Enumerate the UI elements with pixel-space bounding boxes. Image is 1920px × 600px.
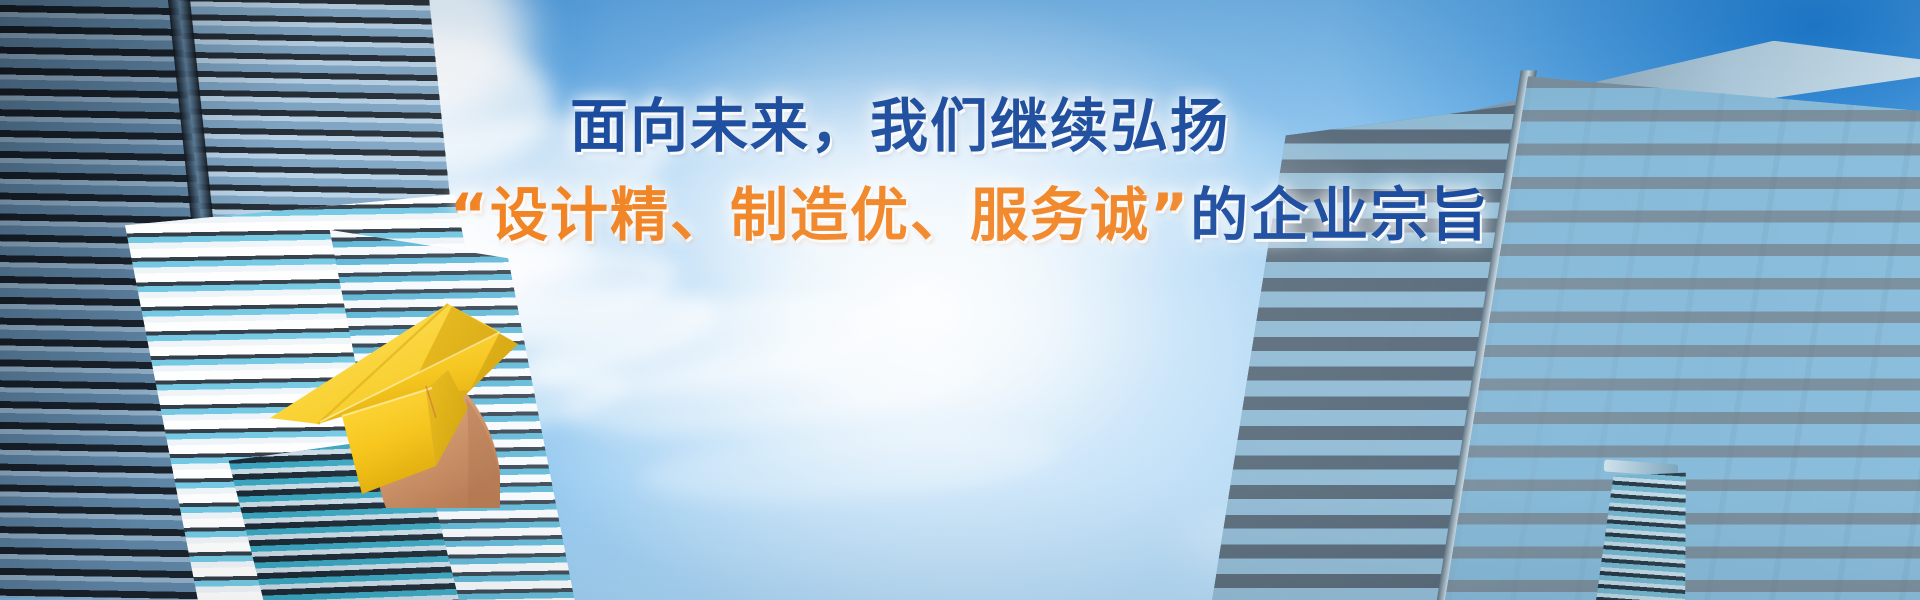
hero-banner: 面向未来，我们继续弘扬 “设计精、制造优、服务诚”的企业宗旨 [0, 0, 1920, 600]
right-skyscraper [1194, 100, 1920, 600]
paper-plane-icon [200, 258, 530, 508]
paper-plane-group [200, 258, 530, 508]
